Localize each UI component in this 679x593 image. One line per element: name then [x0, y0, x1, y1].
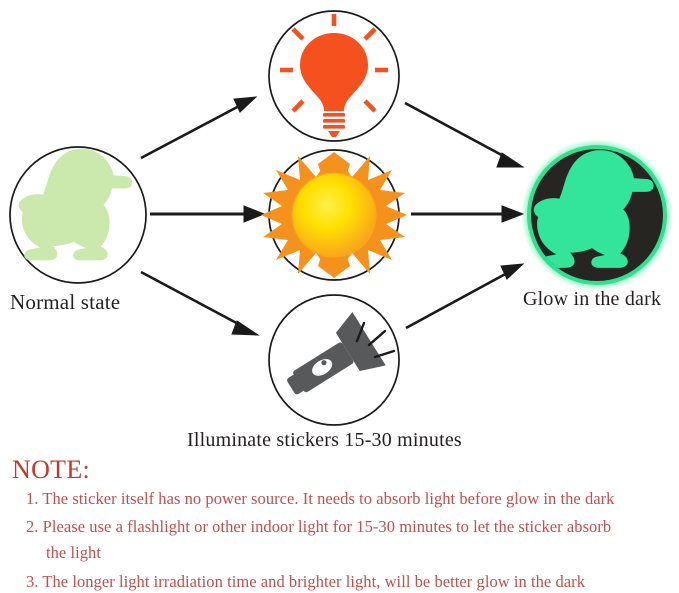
note-item-2-continued: the light: [46, 543, 101, 563]
node-sun[interactable]: [261, 150, 407, 280]
diagram-canvas: Normal state Glow in the dark Illuminate…: [0, 0, 679, 593]
notes-title: NOTE:: [12, 455, 90, 485]
arrow-normal-to-flashlight: [141, 272, 258, 335]
label-illuminate-stickers: Illuminate stickers 15-30 minutes: [187, 429, 462, 452]
label-glow-in-the-dark: Glow in the dark: [523, 288, 661, 311]
arrow-normal-to-bulb: [141, 97, 256, 158]
note-item-2: 2. Please use a flashlight or other indo…: [26, 517, 611, 537]
arrow-flashlight-to-glow: [406, 264, 523, 328]
note-item-1: 1. The sticker itself has no power sourc…: [26, 489, 614, 509]
node-normal-state[interactable]: [10, 147, 146, 283]
node-glow-in-the-dark[interactable]: [521, 139, 673, 291]
node-light-bulb[interactable]: [269, 11, 399, 141]
arrow-normal-to-sun: [150, 206, 264, 222]
sun-icon: [261, 152, 407, 278]
label-normal-state: Normal state: [10, 290, 120, 315]
arrow-bulb-to-glow: [405, 103, 523, 167]
node-flashlight[interactable]: [269, 295, 399, 425]
note-item-3: 3. The longer light irradiation time and…: [26, 572, 585, 592]
arrow-sun-to-glow: [411, 206, 523, 222]
